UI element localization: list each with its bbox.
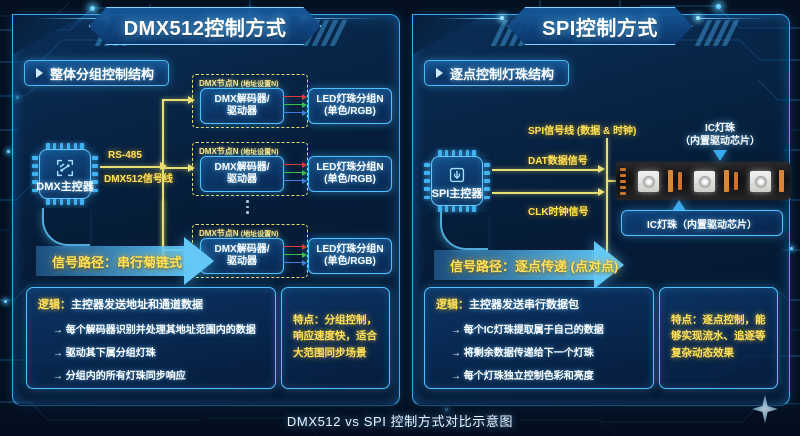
banner-line — [34, 18, 104, 19]
rgb-arrow-red — [302, 94, 307, 100]
solder-pad — [620, 168, 626, 171]
title-banner-left: DMX512控制方式 — [12, 6, 398, 46]
ic-callout-top-pointer-icon — [713, 150, 727, 161]
ic-callout-bottom-label: IC灯珠（内置驱动芯片） — [647, 216, 757, 231]
logic-item: → 分组内的所有灯珠同步响应 — [53, 367, 186, 382]
rgb-line-green — [283, 254, 303, 255]
logic-item: → 每个解码器识别并处理其地址范围内的数据 — [53, 321, 256, 336]
solder-pad — [620, 186, 626, 189]
rgb-line-blue — [283, 262, 303, 263]
node-title-sub: (地址设置N) — [241, 149, 279, 156]
banner-dot — [696, 16, 700, 20]
signal-path-arrow-right: 信号路径：逐点传递 (点对点) — [434, 241, 624, 289]
decoder-line-1: DMX解码器/ — [215, 94, 270, 107]
logic-head-text: 主控器发送地址和通道数据 — [71, 299, 203, 311]
rgb-line-red — [283, 96, 303, 97]
feature-box-left: 特点：分组控制，响应速度快，适合大范围同步场景 — [281, 287, 390, 389]
decoder-line-1: DMX解码器/ — [215, 244, 270, 257]
led-group-line-1: LED灯珠分组N — [316, 244, 383, 257]
solder-pad — [678, 172, 682, 190]
led-package — [638, 171, 659, 192]
clk-signal-arrow — [598, 188, 605, 196]
banner-dot — [500, 16, 504, 20]
solder-pad — [734, 172, 738, 190]
usb-chip-icon — [446, 164, 468, 186]
led-group-1: LED灯珠分组N (单色/RGB) — [308, 88, 392, 124]
solder-pad — [620, 192, 626, 195]
led-group-line-2: (单色/RGB) — [324, 106, 376, 119]
dat-signal-label: DAT数据信号 — [528, 152, 588, 167]
rgb-arrow-blue — [302, 110, 307, 116]
node-title-text: DMX节点N — [199, 147, 239, 156]
feature-text-right: 特点：逐点控制，能够实现流水、追逐等复杂动态效果 — [671, 312, 768, 361]
panel-title-left: DMX512控制方式 — [124, 12, 287, 41]
bus-line-horizontal — [100, 166, 162, 168]
dmx-master-label: DMX主控器 — [32, 178, 98, 194]
logic-item: → 驱动其下属分组灯珠 — [53, 344, 156, 359]
node-1-feed-line — [162, 99, 190, 101]
rgb-arrow-green — [302, 102, 307, 108]
solder-pad — [620, 174, 626, 177]
ic-callout-bottom: IC灯珠（内置驱动芯片） — [621, 210, 783, 236]
logic-item: → 每个IC灯珠提取属于自己的数据 — [451, 321, 604, 336]
node-title-text: DMX节点N — [199, 79, 239, 88]
panel-title-right: SPI控制方式 — [542, 12, 658, 41]
spi-master-label: SPI主控器 — [424, 185, 490, 201]
signal-path-label-right: 信号路径：逐点传递 (点对点) — [450, 256, 618, 275]
led-group-2: LED灯珠分组N (单色/RGB) — [308, 156, 392, 192]
footer-bar: DMX512 vs SPI 控制方式对比示意图 — [0, 404, 800, 436]
logic-box-right: 逻辑：主控器发送串行数据包 → 每个IC灯珠提取属于自己的数据 → 将剩余数据传… — [424, 287, 654, 389]
clk-signal-line — [492, 192, 600, 194]
logic-head-key: 逻辑： — [38, 299, 71, 311]
dat-signal-arrow — [598, 165, 605, 173]
resistor — [724, 170, 729, 192]
node-continuation-dots — [246, 200, 249, 214]
rgb-line-green — [283, 104, 303, 105]
led-group-line-2: (单色/RGB) — [324, 174, 376, 187]
decoder-line-2: 驱动器 — [227, 106, 257, 119]
logic-item: → 每个灯珠独立控制色彩和亮度 — [451, 367, 594, 382]
signal-path-arrow-left: 信号路径：串行菊链式 — [36, 237, 214, 285]
infographic-canvas: DMX512控制方式 整体分组控制结构 DMX主控器 RS-485 DMX512… — [0, 0, 800, 436]
led-group-line-1: LED灯珠分组N — [316, 162, 383, 175]
section-badge-right-label: 逐点控制灯珠结构 — [450, 64, 554, 83]
rgb-arrow-red — [302, 244, 307, 250]
led-group-line-1: LED灯珠分组N — [316, 94, 383, 107]
dmx-master-controller: DMX主控器 — [32, 143, 98, 205]
section-badge-left: 整体分组控制结构 — [24, 60, 169, 86]
bus-label-rs485: RS-485 — [108, 150, 142, 161]
rgb-arrow-green — [302, 252, 307, 258]
rgb-arrow-blue — [302, 178, 307, 184]
banner-line — [434, 18, 500, 19]
ic-callout-top-line2: （内置驱动芯片） — [650, 135, 790, 148]
node-2-feed-arrow — [188, 164, 195, 172]
dmx-decoder-2: DMX解码器/ 驱动器 — [200, 156, 284, 192]
rgb-line-red — [283, 246, 303, 247]
section-badge-left-label: 整体分组控制结构 — [50, 64, 154, 83]
title-frame-left: DMX512控制方式 — [89, 7, 322, 45]
node-2-feed-line — [162, 167, 190, 169]
ic-callout-top-line1: IC灯珠 — [650, 122, 790, 135]
logic-box-left: 逻辑：主控器发送地址和通道数据 → 每个解码器识别并处理其地址范围内的数据 → … — [26, 287, 276, 389]
spi-bus-label: SPI信号线 (数据 & 时钟) — [528, 122, 636, 137]
section-badge-right: 逐点控制灯珠结构 — [424, 60, 569, 86]
dat-signal-line — [492, 169, 600, 171]
title-frame-right: SPI控制方式 — [507, 7, 693, 45]
rgb-arrow-blue — [302, 260, 307, 266]
logic-item: → 将剩余数据传递给下一个灯珠 — [451, 344, 594, 359]
banner-line — [700, 18, 766, 19]
rgb-arrow-red — [302, 162, 307, 168]
logic-head-right: 逻辑：主控器发送串行数据包 — [436, 296, 579, 312]
chip-pins-bottom — [46, 199, 84, 205]
node-title-sub: (地址设置N) — [241, 231, 279, 238]
led-strip — [616, 162, 790, 200]
ic-callout-top: IC灯珠 （内置驱动芯片） — [650, 122, 790, 148]
led-package — [694, 171, 715, 192]
node-1-feed-arrow — [188, 96, 195, 104]
triangle-marker-icon — [36, 68, 43, 78]
logic-head-left: 逻辑：主控器发送地址和通道数据 — [38, 296, 203, 312]
glow-node — [4, 300, 7, 303]
resistor — [668, 170, 673, 192]
logic-head-text: 主控器发送串行数据包 — [469, 299, 579, 311]
rgb-arrow-green — [302, 170, 307, 176]
spi-master-controller: SPI主控器 — [424, 150, 490, 212]
arrow-head — [184, 237, 214, 285]
led-package — [750, 171, 771, 192]
triangle-marker-icon — [436, 68, 443, 78]
feature-box-right: 特点：逐点控制，能够实现流水、追逐等复杂动态效果 — [659, 287, 778, 389]
logic-head-key: 逻辑： — [436, 299, 469, 311]
network-chip-icon — [54, 157, 76, 179]
footer-caption: DMX512 vs SPI 控制方式对比示意图 — [287, 411, 513, 430]
led-group-3: LED灯珠分组N (单色/RGB) — [308, 238, 392, 274]
feature-text-left: 特点：分组控制，响应速度快，适合大范围同步场景 — [293, 312, 380, 361]
resistor — [779, 170, 784, 192]
solder-pad — [620, 180, 626, 183]
decoder-line-2: 驱动器 — [227, 174, 257, 187]
decoder-line-2: 驱动器 — [227, 256, 257, 269]
title-banner-right: SPI控制方式 — [412, 6, 788, 46]
led-group-line-2: (单色/RGB) — [324, 256, 376, 269]
signal-path-label-left: 信号路径：串行菊链式 — [52, 252, 182, 271]
glow-node — [790, 247, 793, 250]
rgb-line-green — [283, 172, 303, 173]
dmx-decoder-1: DMX解码器/ 驱动器 — [200, 88, 284, 124]
rgb-line-blue — [283, 180, 303, 181]
clk-signal-label: CLK时钟信号 — [528, 203, 589, 218]
rgb-line-blue — [283, 112, 303, 113]
banner-line — [306, 18, 376, 19]
decoder-line-1: DMX解码器/ — [215, 162, 270, 175]
glow-node — [7, 150, 10, 153]
rgb-line-red — [283, 164, 303, 165]
node-title-sub: (地址设置N) — [241, 81, 279, 88]
